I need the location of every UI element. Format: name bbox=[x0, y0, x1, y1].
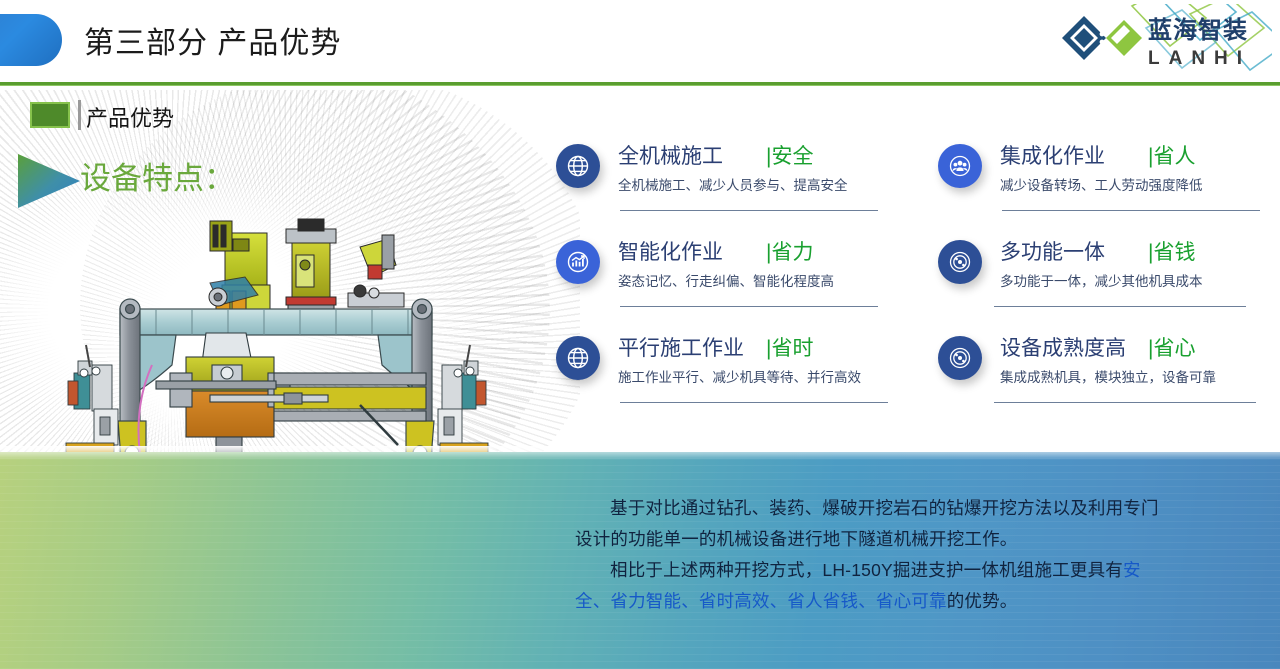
feature-title: 集成化作业 bbox=[1000, 140, 1148, 170]
paragraph-2-before: 相比于上述两种开挖方式，LH-150Y掘进支护一体机组施工更具有 bbox=[610, 560, 1123, 580]
feature-subtitle: 施工作业平行、减少机具等待、并行高效 bbox=[618, 366, 898, 386]
feature-item-duogongneng[interactable]: 多功能一体|省钱 多功能于一体，减少其他机具成本 bbox=[930, 236, 1280, 322]
globe-icon bbox=[556, 144, 600, 188]
paragraph-line-1: 基于对比通过钻孔、装药、爆破开挖岩石的钻爆开挖方法以及利用专门设计的功能单一的机… bbox=[575, 493, 1163, 555]
feature-text: 设备成熟度高|省心 集成成熟机具，模块独立，设备可靠 bbox=[1000, 332, 1280, 386]
logo-cn-text: 蓝海智装 bbox=[1148, 16, 1248, 44]
feature-item-quanjixie[interactable]: 全机械施工|安全 全机械施工、减少人员参与、提高安全 bbox=[548, 140, 898, 226]
paragraph-2-after: 的优势。 bbox=[947, 591, 1018, 611]
feature-item-pingxing[interactable]: 平行施工作业|省时 施工作业平行、减少机具等待、并行高效 bbox=[548, 332, 898, 418]
bar-chart-growth-icon bbox=[556, 240, 600, 284]
feature-column-left: 全机械施工|安全 全机械施工、减少人员参与、提高安全 bbox=[548, 140, 898, 428]
feature-keyword: |安全 bbox=[766, 140, 813, 170]
section-label: 产品优势 bbox=[86, 101, 174, 133]
feature-keyword: |省钱 bbox=[1148, 236, 1195, 266]
feature-grid: 全机械施工|安全 全机械施工、减少人员参与、提高安全 bbox=[548, 140, 1276, 430]
disc-icon bbox=[938, 240, 982, 284]
feature-underline bbox=[994, 402, 1256, 403]
feature-subtitle: 全机械施工、减少人员参与、提高安全 bbox=[618, 174, 898, 194]
feature-item-jichenghua[interactable]: 集成化作业|省人 减少设备转场、工人劳动强度降低 bbox=[930, 140, 1280, 226]
header-divider-light bbox=[0, 85, 1280, 86]
feature-underline bbox=[620, 306, 878, 307]
people-group-icon bbox=[938, 144, 982, 188]
header-pill-icon bbox=[0, 14, 62, 66]
feature-text: 多功能一体|省钱 多功能于一体，减少其他机具成本 bbox=[1000, 236, 1280, 290]
logo-diamond-mark bbox=[1062, 16, 1142, 60]
feature-item-zhinenghua[interactable]: 智能化作业|省力 姿态记忆、行走纠偏、智能化程度高 bbox=[548, 236, 898, 322]
feature-subtitle: 多功能于一体，减少其他机具成本 bbox=[1000, 270, 1280, 290]
feature-keyword: |省人 bbox=[1148, 140, 1195, 170]
section-marker-icon bbox=[30, 102, 70, 128]
feature-title: 智能化作业 bbox=[618, 236, 766, 266]
feature-underline bbox=[1002, 210, 1260, 211]
feature-text: 集成化作业|省人 减少设备转场、工人劳动强度降低 bbox=[1000, 140, 1280, 194]
feature-keyword: |省时 bbox=[766, 332, 813, 362]
feature-underline bbox=[620, 402, 888, 403]
feature-title: 全机械施工 bbox=[618, 140, 766, 170]
section-divider bbox=[78, 100, 81, 130]
feature-title: 平行施工作业 bbox=[618, 332, 766, 362]
logo-en-text: LANHI bbox=[1148, 48, 1251, 69]
feature-heading: 设备特点： bbox=[80, 153, 235, 198]
paragraph-line-2: 相比于上述两种开挖方式，LH-150Y掘进支护一体机组施工更具有安全、省力智能、… bbox=[575, 555, 1163, 617]
feature-subtitle: 集成成熟机具，模块独立，设备可靠 bbox=[1000, 366, 1280, 386]
page-title: 第三部分 产品优势 bbox=[84, 18, 341, 62]
brand-logo: 蓝海智装 LANHI bbox=[1040, 4, 1272, 82]
feature-title: 多功能一体 bbox=[1000, 236, 1148, 266]
feature-keyword: |省力 bbox=[766, 236, 813, 266]
feature-subtitle: 姿态记忆、行走纠偏、智能化程度高 bbox=[618, 270, 898, 290]
disc-icon bbox=[938, 336, 982, 380]
feature-text: 平行施工作业|省时 施工作业平行、减少机具等待、并行高效 bbox=[618, 332, 898, 386]
feature-text: 全机械施工|安全 全机械施工、减少人员参与、提高安全 bbox=[618, 140, 898, 194]
feature-keyword: |省心 bbox=[1148, 332, 1195, 362]
feature-column-right: 集成化作业|省人 减少设备转场、工人劳动强度降低 多功能一体|省钱 bbox=[930, 140, 1280, 428]
summary-paragraph: 基于对比通过钻孔、装药、爆破开挖岩石的钻爆开挖方法以及利用专门设计的功能单一的机… bbox=[575, 493, 1163, 617]
feature-subtitle: 减少设备转场、工人劳动强度降低 bbox=[1000, 174, 1280, 194]
feature-item-chengshudu[interactable]: 设备成熟度高|省心 集成成熟机具，模块独立，设备可靠 bbox=[930, 332, 1280, 418]
feature-title: 设备成熟度高 bbox=[1000, 332, 1148, 362]
globe-icon bbox=[556, 336, 600, 380]
slide-root: 第三部分 产品优势 蓝海智装 LANHI bbox=[0, 0, 1280, 669]
feature-text: 智能化作业|省力 姿态记忆、行走纠偏、智能化程度高 bbox=[618, 236, 898, 290]
feature-underline bbox=[994, 306, 1246, 307]
feature-underline bbox=[620, 210, 878, 211]
